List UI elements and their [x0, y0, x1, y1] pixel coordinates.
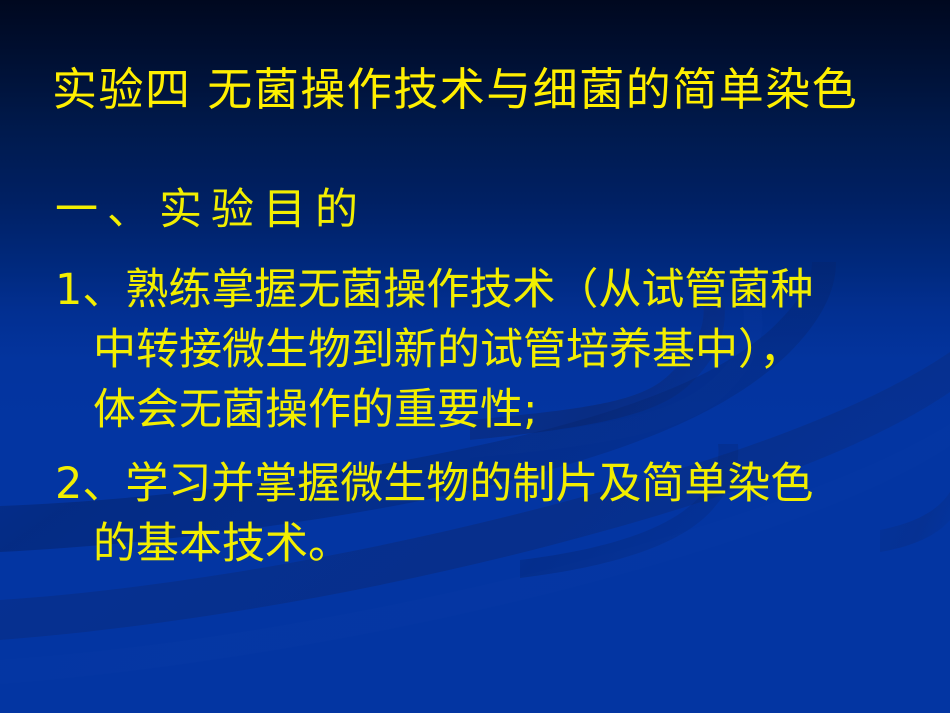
list-item-1-line-3: 体会无菌操作的重要性; [93, 380, 950, 440]
section-heading: 一、实验目的 [55, 182, 950, 238]
slide-content: 实验四 无菌操作技术与细菌的简单染色 一、实验目的 1、熟练掌握无菌操作技术（从… [0, 0, 950, 713]
slide-canvas: 实验四 无菌操作技术与细菌的简单染色 一、实验目的 1、熟练掌握无菌操作技术（从… [0, 0, 950, 713]
list-item-1-line-2: 中转接微生物到新的试管培养基中）， [93, 320, 950, 380]
list-item-1-line-1: 1、熟练掌握无菌操作技术（从试管菌种 [55, 260, 950, 320]
slide-title: 实验四 无菌操作技术与细菌的简单染色 [52, 62, 942, 118]
slide-body: 一、实验目的 1、熟练掌握无菌操作技术（从试管菌种 中转接微生物到新的试管培养基… [0, 182, 950, 574]
list-item-2-line-1: 2、学习并掌握微生物的制片及简单染色 [55, 454, 950, 514]
list-item-2-line-2: 的基本技术。 [93, 514, 950, 574]
list-spacer [0, 440, 950, 454]
